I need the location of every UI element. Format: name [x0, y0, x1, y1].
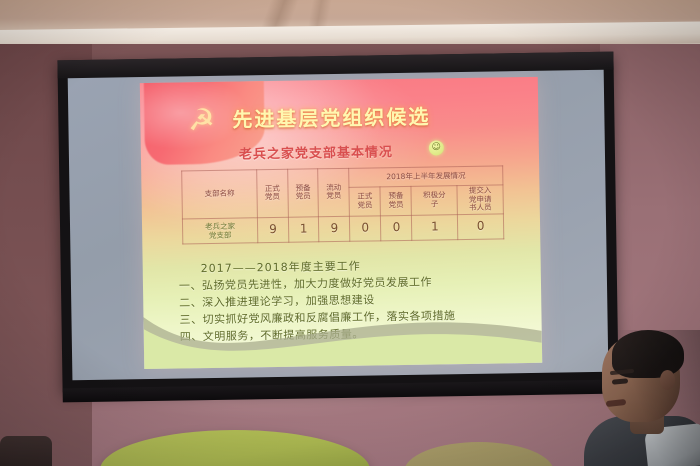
cell-applicant-count: 0: [458, 214, 504, 240]
header-dev-reserve: 预备党员: [380, 186, 412, 215]
header-applicant: 提交入党申请书人员: [457, 185, 503, 215]
room-scene: ☭ 先进基层党组织候选 老兵之家党支部基本情况 ☺ 支部名称 正式党员 预备党员…: [0, 0, 700, 466]
header-activist: 积极分子: [411, 186, 457, 216]
header-formal-member: 正式党员: [257, 169, 288, 217]
header-branch-name: 支部名称: [182, 170, 258, 219]
cell-branch-name: 老兵之家党支部: [182, 218, 257, 244]
projector-screen: ☭ 先进基层党组织候选 老兵之家党支部基本情况 ☺ 支部名称 正式党员 预备党员…: [57, 52, 618, 393]
cell-dev-formal-count: 0: [350, 216, 382, 241]
branch-stats-table: 支部名称 正式党员 预备党员 流动党员 2018年上半年发展情况 正式党员 预备…: [181, 165, 504, 244]
attendee-ear: [660, 370, 675, 390]
green-wave-decoration: [143, 301, 542, 369]
cell-activist-count: 1: [412, 214, 458, 240]
seated-attendee: [590, 330, 700, 466]
screen-surface: ☭ 先进基层党组织候选 老兵之家党支部基本情况 ☺ 支部名称 正式党员 预备党员…: [68, 70, 609, 380]
cell-mobile-count: 9: [319, 216, 350, 241]
presentation-slide: ☭ 先进基层党组织候选 老兵之家党支部基本情况 ☺ 支部名称 正式党员 预备党员…: [140, 77, 542, 369]
header-reserve-member: 预备党员: [287, 169, 318, 217]
header-mobile-member: 流动党员: [318, 168, 349, 216]
chair: [0, 436, 52, 466]
cell-dev-reserve-count: 0: [381, 215, 413, 240]
header-development-group: 2018年上半年发展情况: [349, 166, 503, 187]
header-dev-formal: 正式党员: [349, 187, 381, 216]
hammer-sickle-icon: ☭: [184, 106, 218, 139]
slide-title: 先进基层党组织候选: [232, 99, 532, 133]
cell-formal-count: 9: [257, 217, 288, 242]
table-row: 老兵之家党支部 9 1 9 0 0 1 0: [182, 214, 503, 244]
cell-reserve-count: 1: [288, 217, 319, 242]
